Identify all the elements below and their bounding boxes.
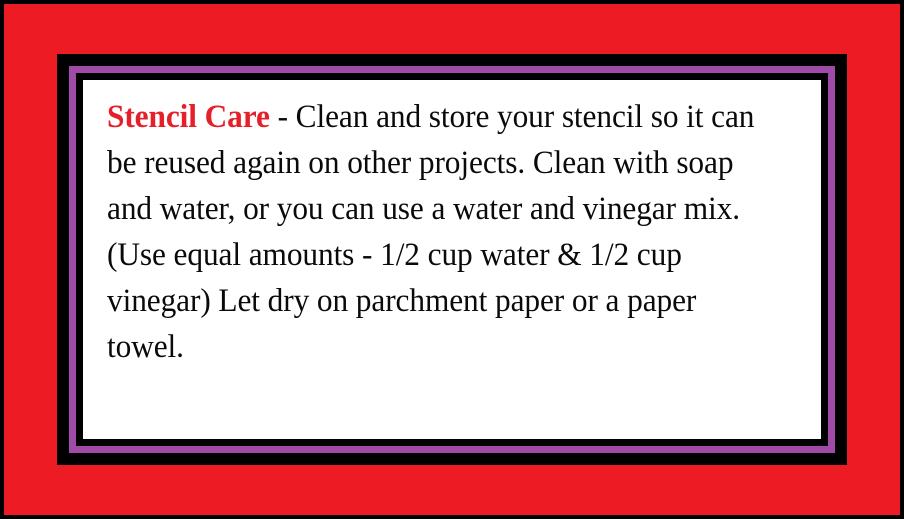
black-inner-band: Stencil Care - Clean and store your sten… [76, 73, 828, 446]
white-text-panel: Stencil Care - Clean and store your sten… [83, 80, 821, 439]
card-title: Stencil Care [107, 99, 270, 135]
card-paragraph: Stencil Care - Clean and store your sten… [107, 94, 764, 370]
title-separator: - [270, 99, 296, 135]
black-outer-band: Stencil Care - Clean and store your sten… [57, 54, 847, 465]
red-outer-frame: Stencil Care - Clean and store your sten… [4, 4, 900, 515]
purple-band: Stencil Care - Clean and store your sten… [69, 66, 835, 453]
stencil-care-card: Stencil Care - Clean and store your sten… [0, 0, 904, 519]
card-body-text: Clean and store your stencil so it can b… [107, 99, 754, 365]
